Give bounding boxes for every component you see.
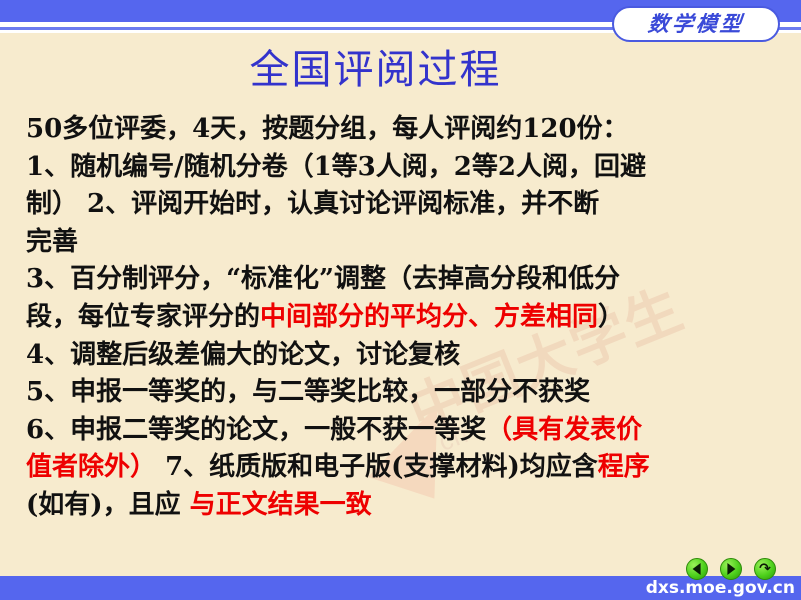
next-slide-button[interactable] [720, 558, 742, 580]
text-run-red: 与正文结果一致 [181, 490, 372, 520]
text-run-black: ） [598, 302, 624, 332]
text-run-black: 50多位评委，4天，按题分组，每人评阅约120份： [26, 114, 629, 144]
page-title: 全国评阅过程 [0, 48, 801, 92]
body-line-5: 3、百分制评分，“标准化”调整（去掉高分段和低分 [26, 261, 778, 299]
body-line-1: 50多位评委，4天，按题分组，每人评阅约120份： [26, 111, 778, 149]
body-line-6: 段，每位专家评分的中间部分的平均分、方差相同） [26, 299, 778, 337]
text-run-red: 值者除外） [26, 452, 156, 482]
brand-badge-label: 数学模型 [647, 14, 745, 35]
text-run-black: 1、随机编号/随机分卷（1等3人阅，2等2人阅，回避 [26, 152, 646, 182]
slide-body: 50多位评委，4天，按题分组，每人评阅约120份：1、随机编号/随机分卷（1等3… [26, 111, 778, 525]
arrow-right-icon [727, 563, 735, 575]
text-run-black: 段，每位专家评分的 [26, 302, 260, 332]
body-line-8: 5、申报一等奖的，与二等奖比较，一部分不获奖 [26, 374, 778, 412]
text-run-black: (如有)，且应 [26, 490, 181, 520]
brand-badge: 数学模型 [612, 6, 780, 42]
body-line-7: 4、调整后级差偏大的论文，讨论复核 [26, 337, 778, 375]
refresh-arrow-icon: ↷ [759, 562, 771, 576]
text-run-red: （具有发表价 [486, 415, 642, 445]
previous-slide-button[interactable] [686, 558, 708, 580]
text-run-black: 7、纸质版和电子版(支撑材料)均应含 [156, 452, 598, 482]
body-line-2: 1、随机编号/随机分卷（1等3人阅，2等2人阅，回避 [26, 149, 778, 187]
body-line-3: 制） 2、评阅开始时，认真讨论评阅标准，并不断 [26, 186, 778, 224]
text-run-black: 4、调整后级差偏大的论文，讨论复核 [26, 340, 460, 370]
text-run-black: 完善 [26, 227, 78, 257]
slide-canvas: 数学模型 中国大学生 cn 全国评阅过程 50多位评委，4天，按题分组，每人评阅… [0, 0, 801, 600]
text-run-black: 5、申报一等奖的，与二等奖比较，一部分不获奖 [26, 377, 590, 407]
home-slide-button[interactable]: ↷ [754, 558, 776, 580]
footer-url: dxs.moe.gov.cn [0, 576, 795, 600]
text-run-black: 6、申报二等奖的论文，一般不获一等奖 [26, 415, 486, 445]
text-run-red: 中间部分的平均分、方差相同 [260, 302, 598, 332]
text-run-red: 程序 [598, 452, 650, 482]
text-run-black: 制） 2、评阅开始时，认真讨论评阅标准，并不断 [26, 189, 599, 219]
slide-nav-buttons[interactable]: ↷ [686, 558, 786, 580]
body-line-9: 6、申报二等奖的论文，一般不获一等奖（具有发表价 [26, 412, 778, 450]
text-run-black: 3、百分制评分，“标准化”调整（去掉高分段和低分 [26, 264, 620, 294]
body-line-4: 完善 [26, 224, 778, 262]
body-line-10: 值者除外） 7、纸质版和电子版(支撑材料)均应含程序 [26, 449, 778, 487]
arrow-left-icon [693, 563, 701, 575]
body-line-11: (如有)，且应 与正文结果一致 [26, 487, 778, 525]
page-title-text: 全国评阅过程 [250, 48, 502, 92]
